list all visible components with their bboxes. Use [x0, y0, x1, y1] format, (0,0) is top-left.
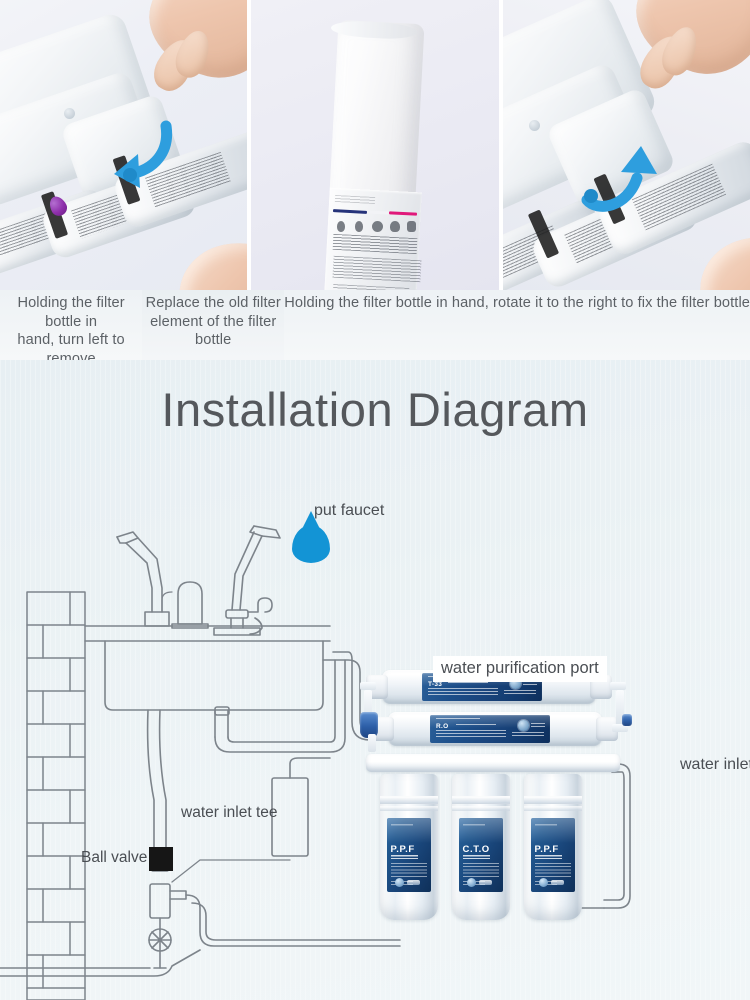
caption-cell-2: Replace the old filter element of the fi… [142, 290, 284, 360]
horizontal-filter-name-1: T-33 [428, 681, 442, 688]
vertical-filter-name-3: P.P.F [535, 844, 559, 855]
step-photo-strip [0, 0, 750, 290]
vertical-filter-name-2: C.T.O [463, 844, 490, 855]
vertical-filter-cto: C.T.O [452, 774, 510, 920]
step-caption-3: Holding the filter bottle in hand, rotat… [284, 294, 750, 313]
filter-manifold [366, 754, 620, 772]
water-inlet-tee-marker [149, 847, 173, 871]
vertical-filter-name-1: P.P.F [391, 844, 415, 855]
horizontal-filter-name-2: R.O [436, 723, 448, 730]
vertical-filter-label-3: P.P.F [531, 818, 575, 892]
caption-cell-3: Holding the filter bottle in hand, rotat… [284, 290, 750, 360]
curved-arrow-right-icon [575, 142, 659, 214]
caption-cell-1: Holding the filter bottle in hand, turn … [0, 290, 142, 360]
page-title: Installation Diagram [0, 382, 750, 437]
step-photo-fix-bottle [503, 0, 750, 290]
step-caption-2: Replace the old filter element of the fi… [142, 294, 284, 350]
curved-arrow-left-icon [96, 118, 176, 188]
water-purifier-unit: T-33 R.O [360, 670, 640, 920]
vertical-filter-ppf-1: P.P.F [380, 774, 438, 920]
installation-guide-page: Holding the filter bottle in hand, turn … [0, 0, 750, 1000]
ball-valve-label: Ball valve [81, 849, 147, 867]
water-inlet-label: water inlet [680, 756, 750, 774]
installation-diagram: Installation Diagram [0, 360, 750, 1000]
step-caption-row: Holding the filter bottle in hand, turn … [0, 290, 750, 360]
vertical-filter-label-2: C.T.O [459, 818, 503, 892]
water-purification-port-label: water purification port [433, 656, 607, 682]
step-photo-replace-element [251, 0, 498, 290]
step-photo-remove-bottle [0, 0, 247, 290]
water-inlet-tee-label: water inlet tee [181, 804, 278, 822]
vertical-filter-label-1: P.P.F [387, 818, 431, 892]
vertical-filter-ppf-2: P.P.F [524, 774, 582, 920]
horizontal-filter-ro-label: R.O [430, 715, 550, 743]
output-faucet-label: put faucet [314, 502, 384, 520]
